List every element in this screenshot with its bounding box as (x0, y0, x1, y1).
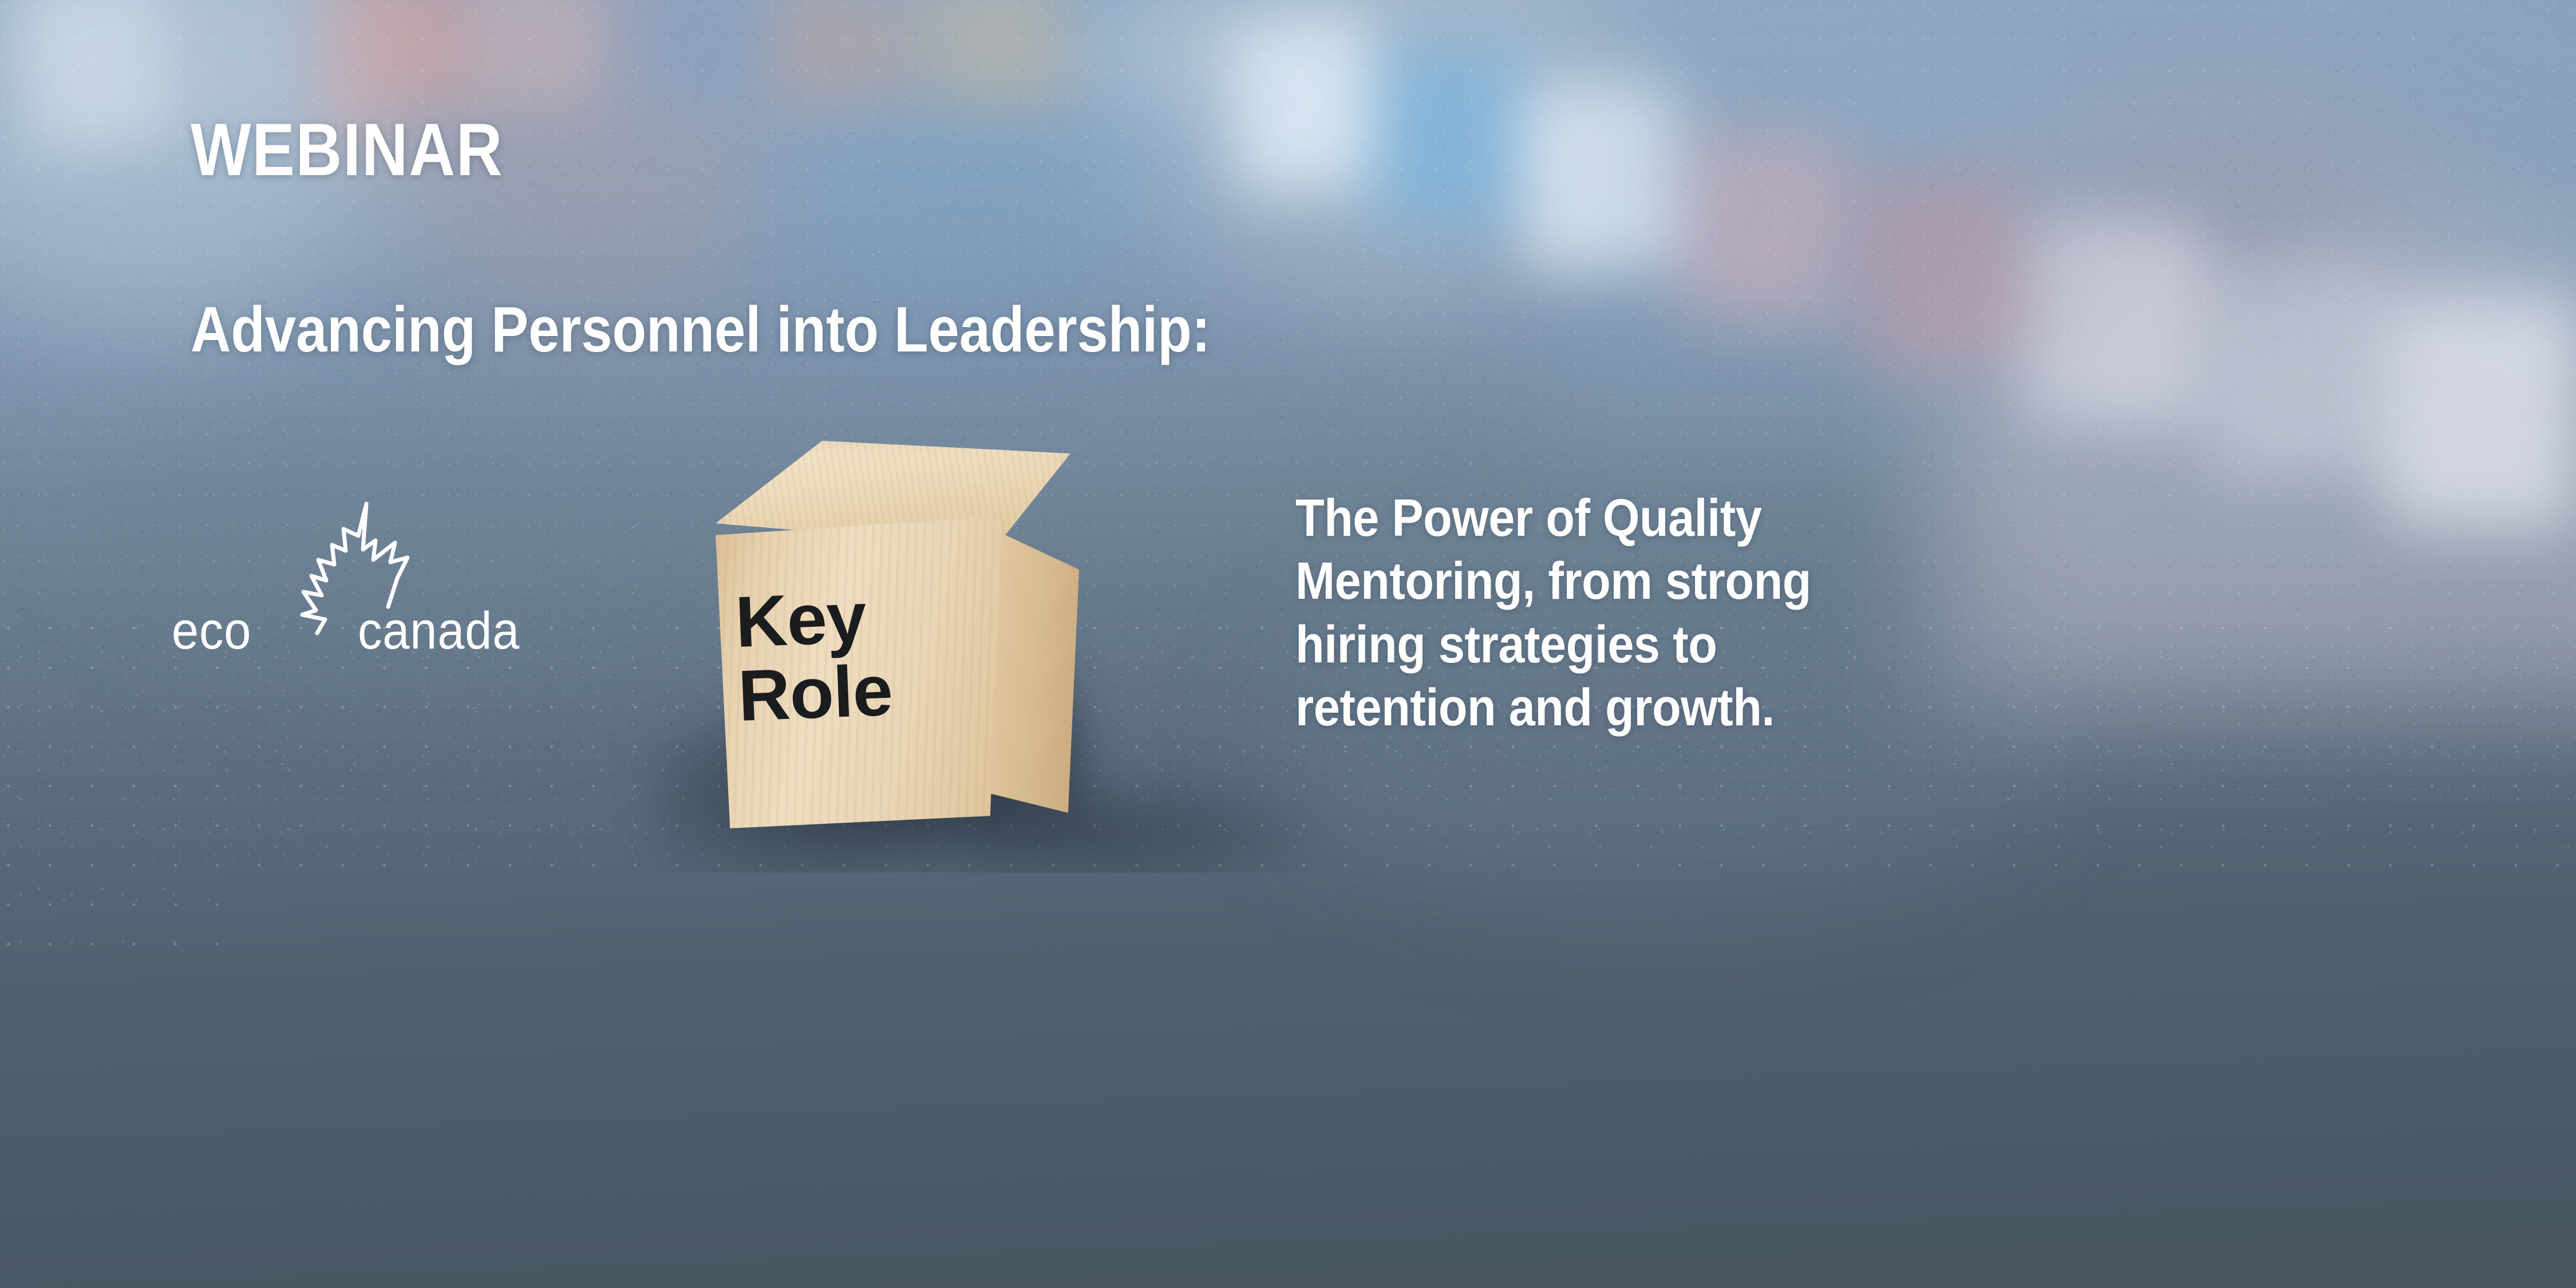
eco-logo-word-eco: eco (172, 605, 251, 657)
promotional-banner: WEBINAR Advancing Personnel into Leaders… (0, 0, 2576, 1288)
background-block-15 (2383, 294, 2576, 530)
mentor-subword-canada: CANADA (1649, 1104, 2046, 1153)
background-block-7 (1079, 0, 1222, 163)
background-block-9 (1368, 46, 1528, 228)
mentor-hexagon-mark-icon (1282, 966, 1603, 1207)
block-text-line-1: Key (734, 576, 977, 659)
subheading-line-4: retention and growth. (1295, 676, 2202, 739)
mark-blue-outline (1447, 1115, 1523, 1207)
background-block-8 (1226, 14, 1378, 193)
subheading: The Power of Quality Mentoring, from str… (1295, 487, 2202, 740)
mentor-canada-logo: MENTOR CANADA (1282, 966, 2084, 1207)
background-bokeh-2 (733, 0, 1202, 309)
subheading-line-2: Mentoring, from strong (1295, 550, 2202, 613)
page-title: Advancing Personnel into Leadership: (191, 298, 1210, 362)
background-block-6 (920, 0, 1078, 160)
block-text-line-2: Role (737, 650, 980, 733)
eco-logo-word-canada: canada (358, 605, 520, 657)
background-block-13 (2021, 213, 2203, 428)
eco-canada-logo: eco canada (172, 504, 544, 675)
background-block-11 (1675, 125, 1851, 327)
background-block-0 (17, 0, 172, 153)
subheading-line-3: hiring strategies to (1295, 613, 2202, 676)
background-block-14 (2198, 253, 2392, 480)
block-text: Key Role (734, 576, 980, 733)
background-block-4 (608, 0, 766, 147)
block-side-face (987, 527, 1079, 813)
background-bokeh-3 (1133, 0, 1649, 309)
wooden-key-role-block: Key Role (713, 441, 1274, 916)
eyebrow-webinar: WEBINAR (191, 112, 503, 187)
background-bokeh-4 (1546, 0, 2095, 435)
background-block-12 (1848, 166, 2027, 372)
background-bokeh-6 (2233, 195, 2576, 710)
background-block-5 (767, 0, 922, 159)
mark-orange-outline (1362, 1115, 1438, 1207)
background-block-10 (1519, 83, 1680, 271)
subheading-line-1: The Power of Quality (1295, 487, 2202, 550)
mentor-wordmark: MENTOR (1644, 996, 2074, 1075)
